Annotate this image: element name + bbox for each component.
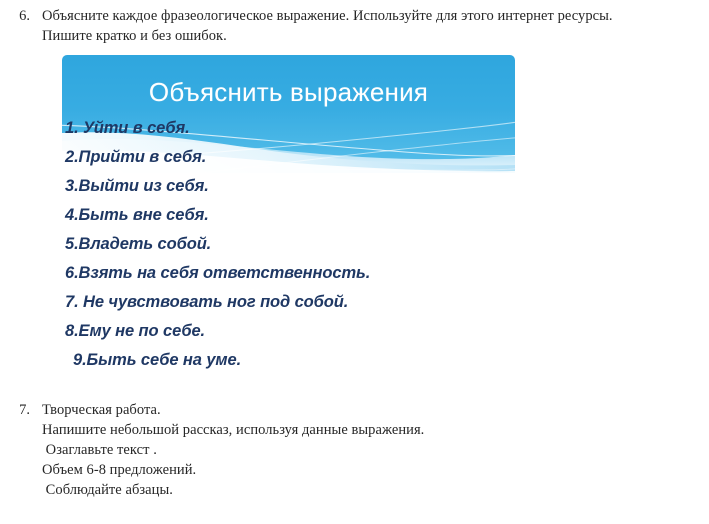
phrase-item: 9.Быть себе на уме. [0, 346, 709, 375]
phrase-list: 1. Уйти в себя.2.Прийти в себя.3.Выйти и… [0, 114, 709, 375]
task-7-block: 7. Творческая работа. Напишите небольшой… [0, 400, 709, 500]
phrase-item: 5.Владеть собой. [0, 230, 709, 259]
phrase-item: 1. Уйти в себя. [0, 114, 709, 143]
phrase-item: 7. Не чувствовать ног под собой. [0, 288, 709, 317]
phrase-item: 4.Быть вне себя. [0, 201, 709, 230]
task-6-block: 6. Объясните каждое фразеологическое выр… [0, 6, 709, 46]
task-7-row: 7. Творческая работа. Напишите небольшой… [0, 400, 709, 500]
phrase-item: 2.Прийти в себя. [0, 143, 709, 172]
task-6-lines: Объясните каждое фразеологическое выраже… [42, 6, 709, 46]
task-7-line-5: Соблюдайте абзацы. [42, 480, 709, 500]
phrase-item: 6.Взять на себя ответственность. [0, 259, 709, 288]
task-6-line-1: Объясните каждое фразеологическое выраже… [42, 6, 709, 26]
phrase-item: 3.Выйти из себя. [0, 172, 709, 201]
task-7-number: 7. [0, 400, 30, 420]
task-7-line-1: Творческая работа. [42, 400, 709, 420]
task-6-number: 6. [0, 6, 30, 26]
phrase-item: 8.Ему не по себе. [0, 317, 709, 346]
task-7-line-3: Озаглавьте текст . [42, 440, 709, 460]
banner-title: Объяснить выражения [62, 77, 515, 107]
task-7-line-4: Объем 6-8 предложений. [42, 460, 709, 480]
task-6-line-2: Пишите кратко и без ошибок. [42, 26, 709, 46]
task-7-line-2: Напишите небольшой рассказ, используя да… [42, 420, 709, 440]
task-6-row: 6. Объясните каждое фразеологическое выр… [0, 6, 709, 46]
task-7-lines: Творческая работа. Напишите небольшой ра… [42, 400, 709, 500]
